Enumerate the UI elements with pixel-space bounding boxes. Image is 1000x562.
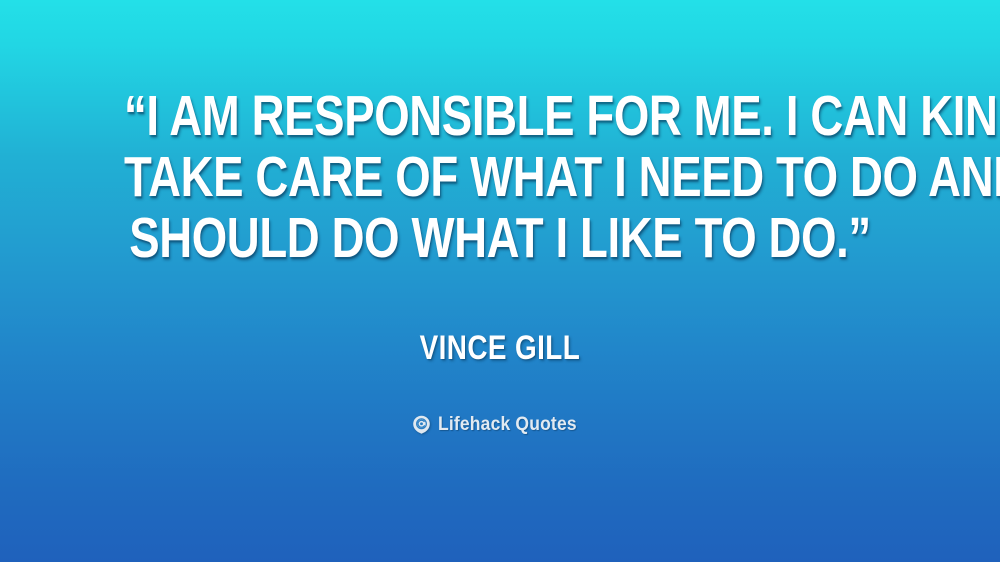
quote-author: VINCE GILL bbox=[420, 331, 581, 365]
quote-text-block: “I AM RESPONSIBLE FOR ME. I CAN KIND OF … bbox=[30, 86, 970, 269]
brand-watermark: Lifehack Quotes bbox=[412, 415, 589, 434]
lifehack-circle-logo-icon bbox=[412, 415, 431, 434]
quote-card: “I AM RESPONSIBLE FOR ME. I CAN KIND OF … bbox=[0, 0, 1000, 562]
brand-name: Lifehack Quotes bbox=[438, 415, 577, 434]
quote-line-1: “I AM RESPONSIBLE FOR ME. I CAN KIND OF bbox=[124, 86, 876, 147]
quote-line-2: TAKE CARE OF WHAT I NEED TO DO AND bbox=[124, 147, 876, 208]
quote-line-3: SHOULD DO WHAT I LIKE TO DO.” bbox=[124, 208, 876, 269]
